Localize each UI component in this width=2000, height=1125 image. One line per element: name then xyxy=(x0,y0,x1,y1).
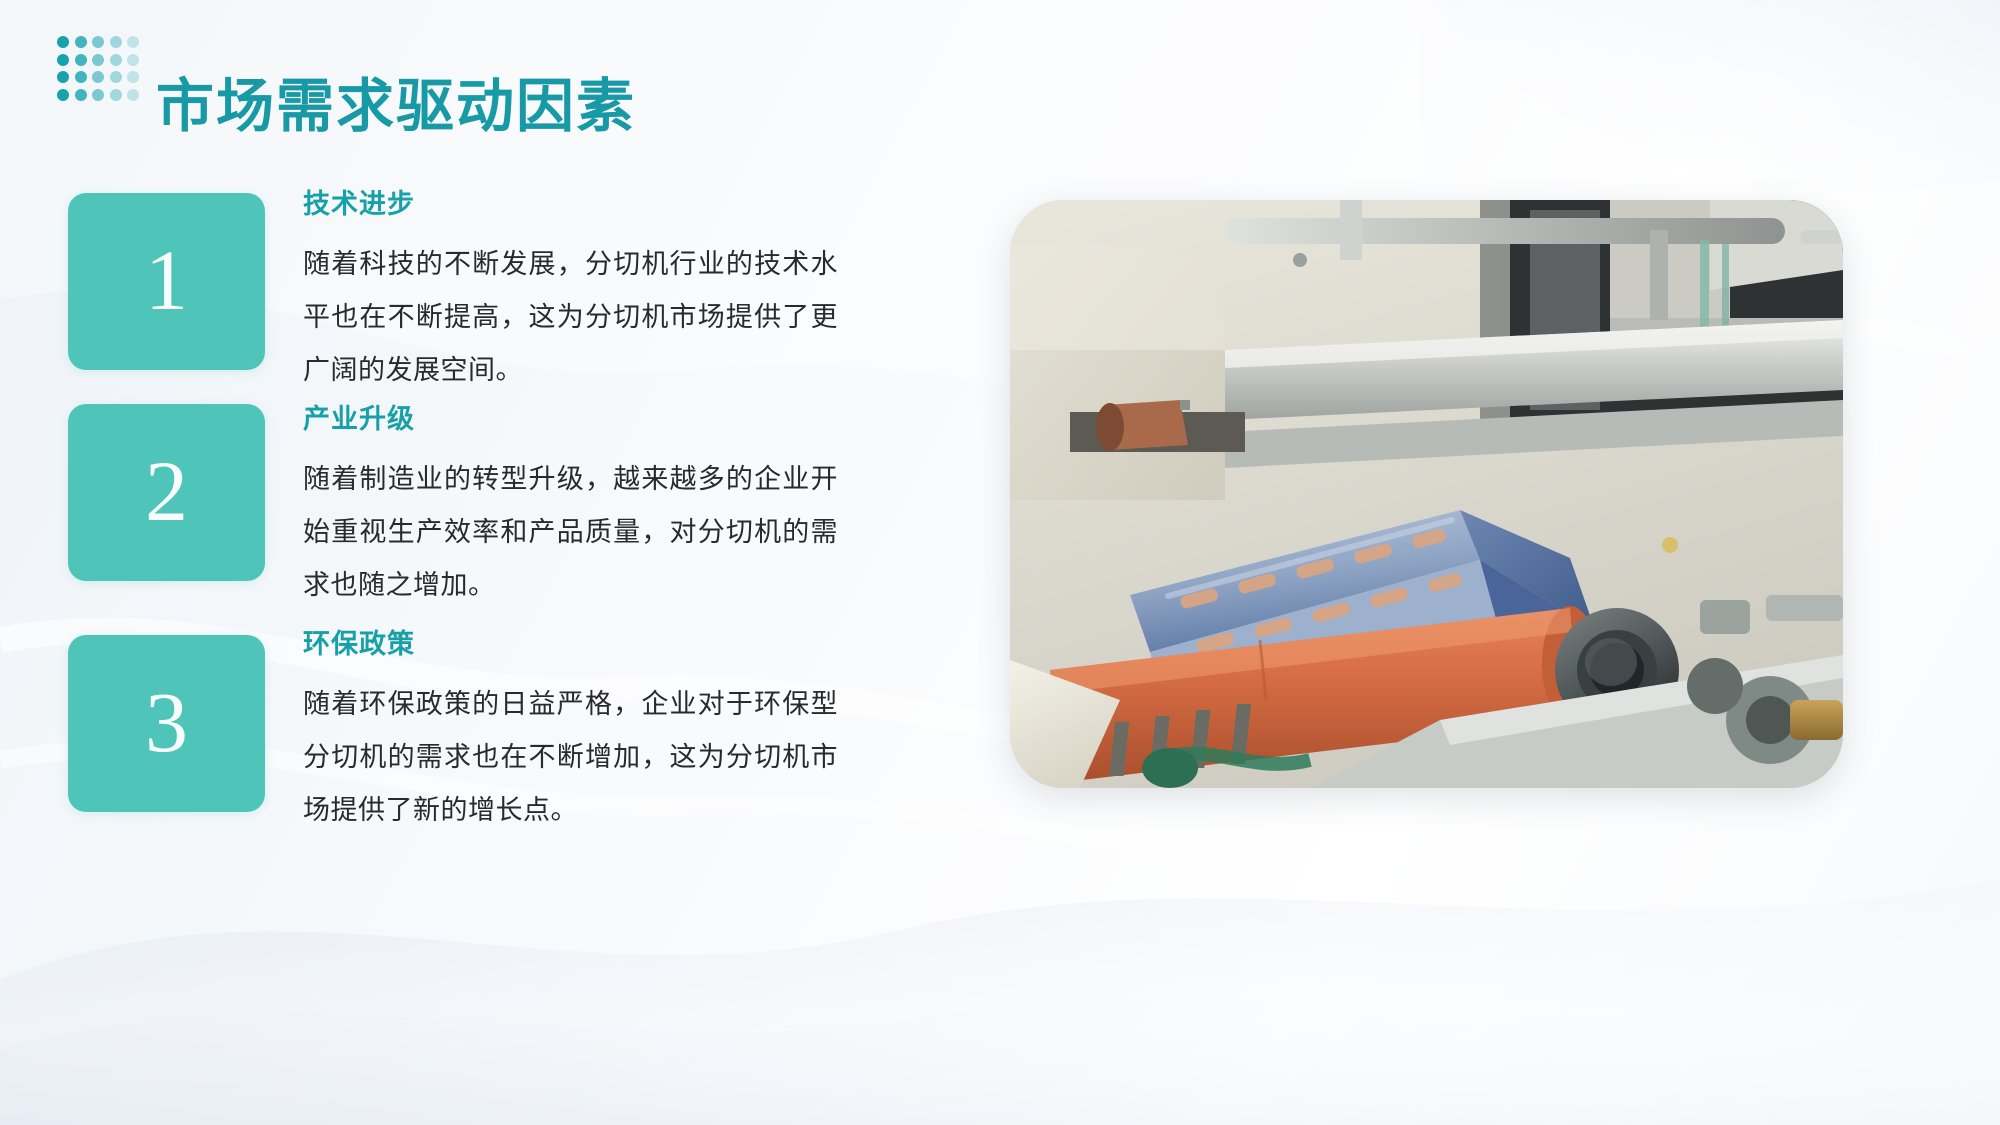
item-heading: 技术进步 xyxy=(303,188,838,220)
item-paragraph: 随着科技的不断发展，分切机行业的技术水平也在不断提高，这为分切机市场提供了更广阔… xyxy=(303,238,838,397)
item-number-label: 3 xyxy=(145,679,188,765)
item-paragraph: 随着环保政策的日益严格，企业对于环保型分切机的需求也在不断增加，这为分切机市场提… xyxy=(303,678,838,837)
item-body: 环保政策 随着环保政策的日益严格，企业对于环保型分切机的需求也在不断增加，这为分… xyxy=(303,628,838,837)
item-body: 产业升级 随着制造业的转型升级，越来越多的企业开始重视生产效率和产品质量，对分切… xyxy=(303,403,838,612)
item-paragraph: 随着制造业的转型升级，越来越多的企业开始重视生产效率和产品质量，对分切机的需求也… xyxy=(303,453,838,612)
item-heading: 产业升级 xyxy=(303,403,838,435)
slitting-machine-photo xyxy=(1010,200,1843,788)
item-number-badge: 1 xyxy=(68,193,265,370)
item-number-badge: 2 xyxy=(68,404,265,581)
item-number-label: 2 xyxy=(145,448,188,534)
item-heading: 环保政策 xyxy=(303,628,838,660)
slide-root: 市场需求驱动因素 1 技术进步 随着科技的不断发展，分切机行业的技术水平也在不断… xyxy=(0,0,2000,1125)
item-number-label: 1 xyxy=(145,237,188,323)
item-number-badge: 3 xyxy=(68,635,265,812)
driver-list: 1 技术进步 随着科技的不断发展，分切机行业的技术水平也在不断提高，这为分切机市… xyxy=(0,0,900,1125)
item-body: 技术进步 随着科技的不断发展，分切机行业的技术水平也在不断提高，这为分切机市场提… xyxy=(303,188,838,397)
